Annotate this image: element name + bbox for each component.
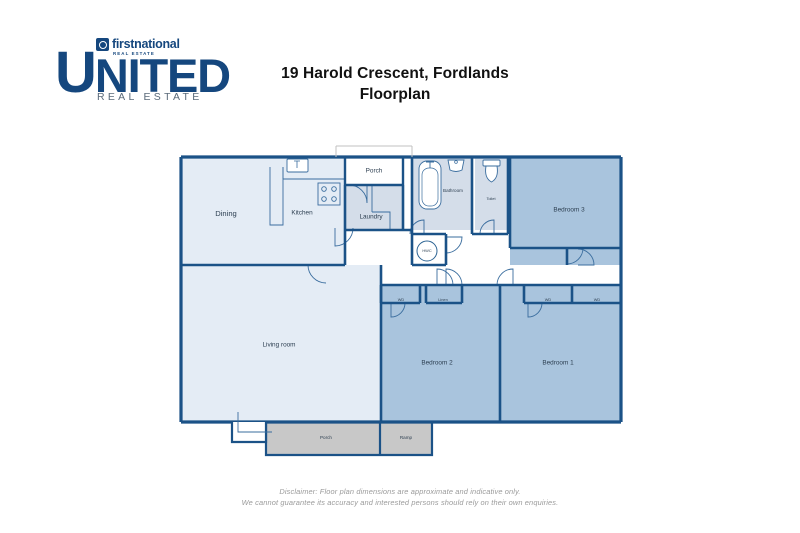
label-kitchen: Kitchen <box>291 210 313 217</box>
first-national-label: firstnational <box>112 38 180 51</box>
label-porch-front: Porch <box>320 435 332 440</box>
room-fills <box>181 157 621 455</box>
first-national-logo-icon <box>96 38 109 51</box>
logo-tagline: REAL ESTATE <box>97 91 203 103</box>
first-national-sublabel: REAL ESTATE <box>113 51 155 56</box>
bedroom-2-fill <box>381 285 500 422</box>
label-bathroom: Bathroom <box>443 188 463 193</box>
logo-wordmark-u: U <box>55 40 95 105</box>
label-linen: Linen <box>438 297 448 302</box>
label-wardrobe-1a: WD <box>545 297 552 302</box>
property-address: 19 Harold Crescent, Fordlands <box>250 64 540 85</box>
label-living-room: Living room <box>262 342 295 349</box>
page-title: 19 Harold Crescent, Fordlands Floorplan <box>250 64 540 106</box>
floorplan-drawing: Dining Kitchen Porch Laundry Bathroom To… <box>0 120 800 480</box>
label-bedroom-1: Bedroom 1 <box>542 360 574 367</box>
plan-subtitle: Floorplan <box>250 85 540 106</box>
united-real-estate-logo: UNITED firstnational REAL ESTATE REAL ES… <box>55 33 230 103</box>
label-hwc: HWC <box>422 248 431 253</box>
label-toilet: Toilet <box>486 196 496 201</box>
wash-basin-icon <box>448 160 464 172</box>
label-dining: Dining <box>215 209 237 218</box>
label-laundry: Laundry <box>359 214 383 221</box>
disclaimer-line-1: Disclaimer: Floor plan dimensions are ap… <box>0 487 800 498</box>
toilet-cistern-icon <box>483 160 500 166</box>
disclaimer-text: Disclaimer: Floor plan dimensions are ap… <box>0 487 800 508</box>
disclaimer-line-2: We cannot guarantee its accuracy and int… <box>0 498 800 509</box>
label-porch-top: Porch <box>366 168 383 175</box>
dining-kitchen-fill <box>181 157 345 265</box>
first-national-badge: firstnational <box>96 38 180 51</box>
laundry-fill <box>345 185 403 230</box>
label-wardrobe-2: WD <box>398 297 405 302</box>
label-bedroom-3: Bedroom 3 <box>553 207 585 214</box>
label-bedroom-2: Bedroom 2 <box>421 360 453 367</box>
bedroom-1-fill <box>500 285 621 422</box>
page-header: UNITED firstnational REAL ESTATE REAL ES… <box>0 0 800 120</box>
label-wardrobe-1b: WD <box>594 297 601 302</box>
label-ramp: Ramp <box>400 435 413 440</box>
